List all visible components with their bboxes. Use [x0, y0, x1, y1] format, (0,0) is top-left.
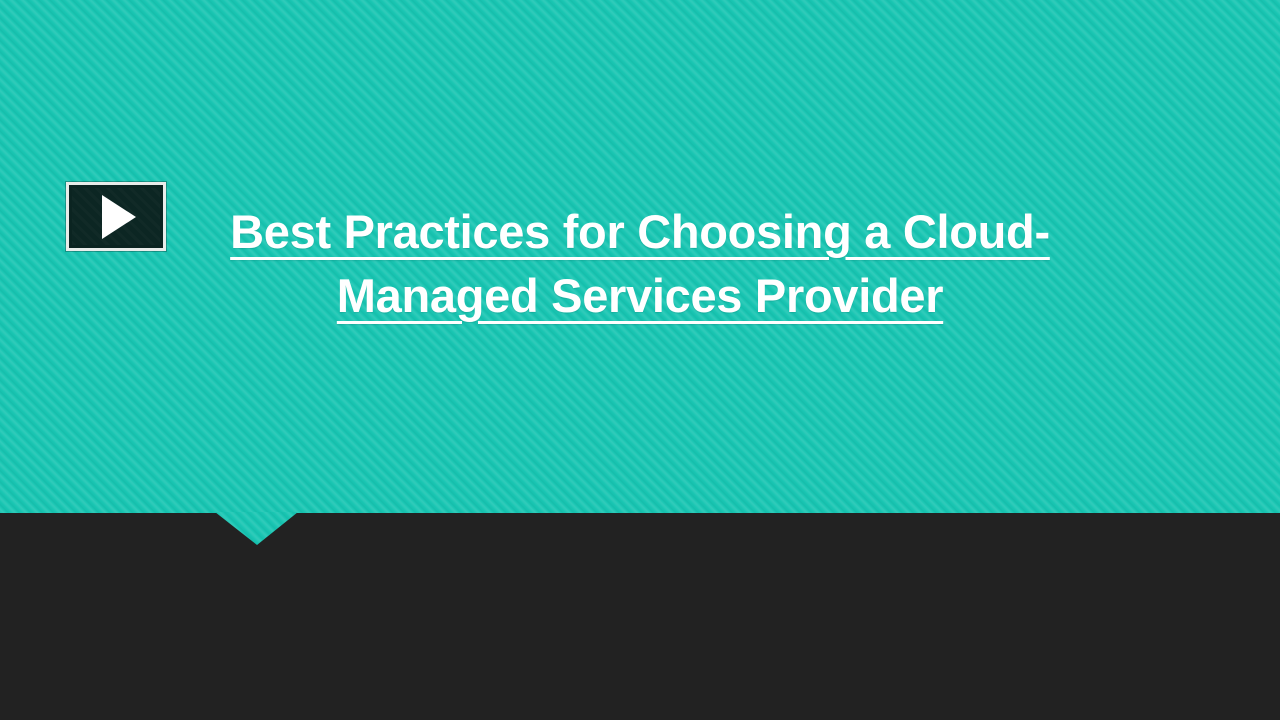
play-icon: [102, 195, 136, 239]
slide-title: Best Practices for Choosing a Cloud- Man…: [200, 200, 1080, 328]
slide-title-text: Best Practices for Choosing a Cloud- Man…: [230, 205, 1050, 322]
banner-notch-pointer: [215, 512, 298, 545]
play-video-button[interactable]: [66, 182, 166, 251]
presentation-slide: Best Practices for Choosing a Cloud- Man…: [0, 0, 1280, 720]
